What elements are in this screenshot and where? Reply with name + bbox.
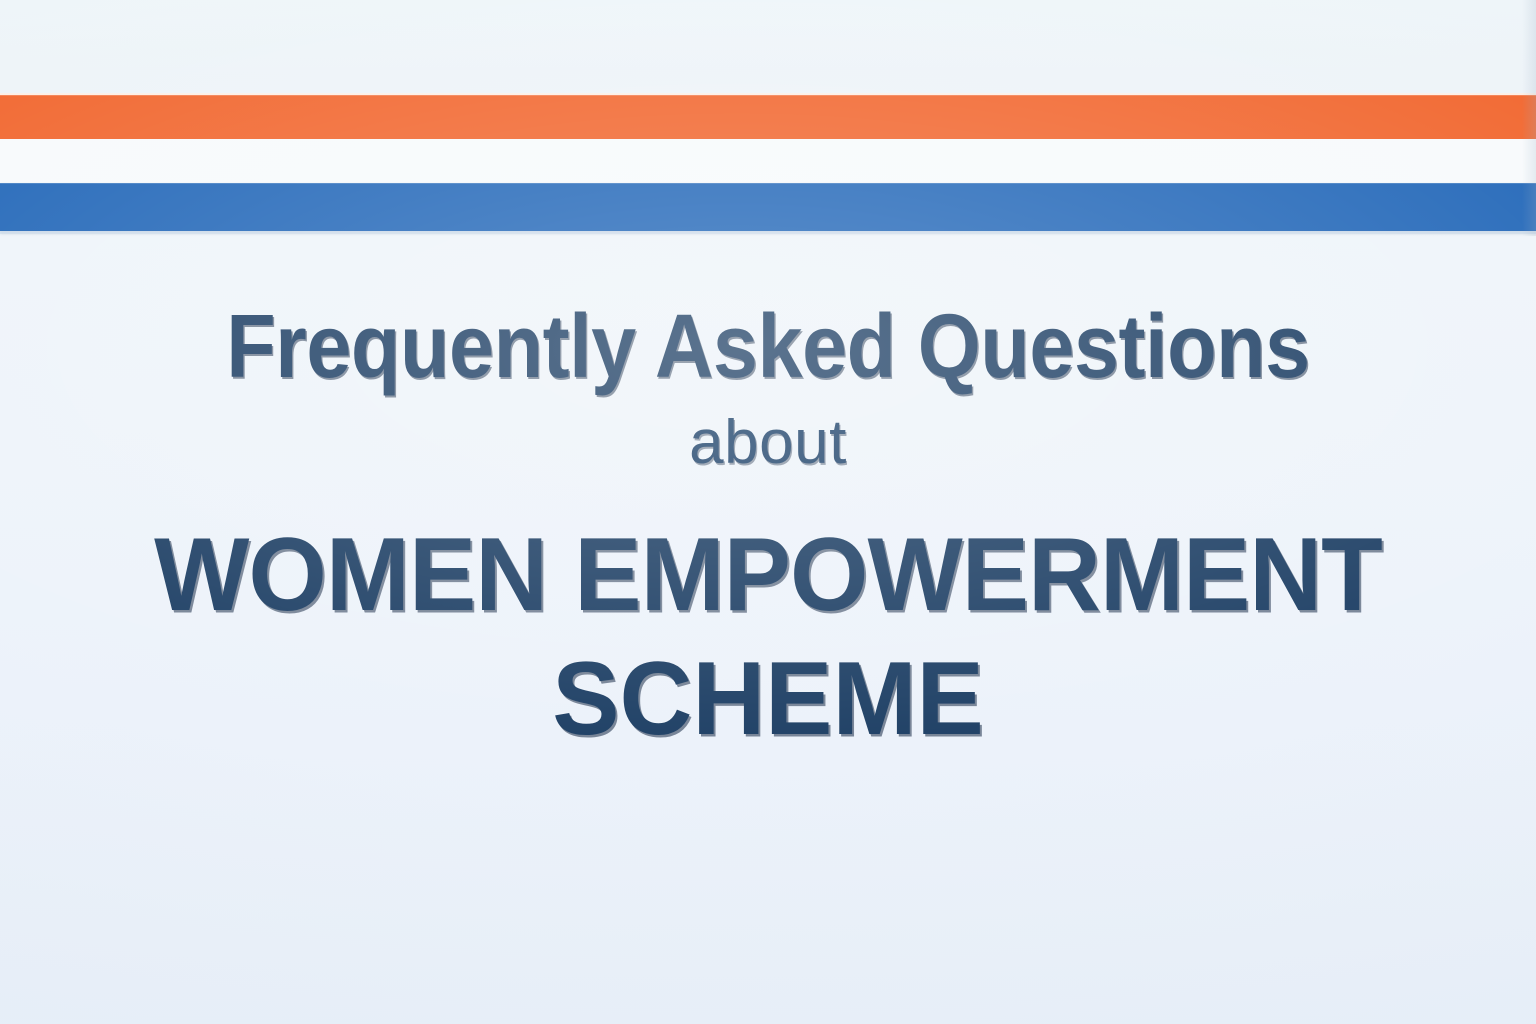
orange-band xyxy=(0,95,1536,139)
faq-eyebrow-text: Frequently Asked Questions xyxy=(77,300,1459,395)
about-connector-text: about xyxy=(0,409,1536,477)
tricolor-band-group xyxy=(0,0,1536,236)
headline-stack: Frequently Asked Questions about WOMEN E… xyxy=(0,300,1536,752)
blue-band xyxy=(0,183,1536,231)
faq-banner: Frequently Asked Questions about WOMEN E… xyxy=(0,0,1536,1024)
scheme-title-line-2: SCHEME xyxy=(23,646,1513,752)
white-band xyxy=(0,139,1536,183)
scheme-title-line-1: WOMEN EMPOWERMENT xyxy=(23,522,1513,628)
